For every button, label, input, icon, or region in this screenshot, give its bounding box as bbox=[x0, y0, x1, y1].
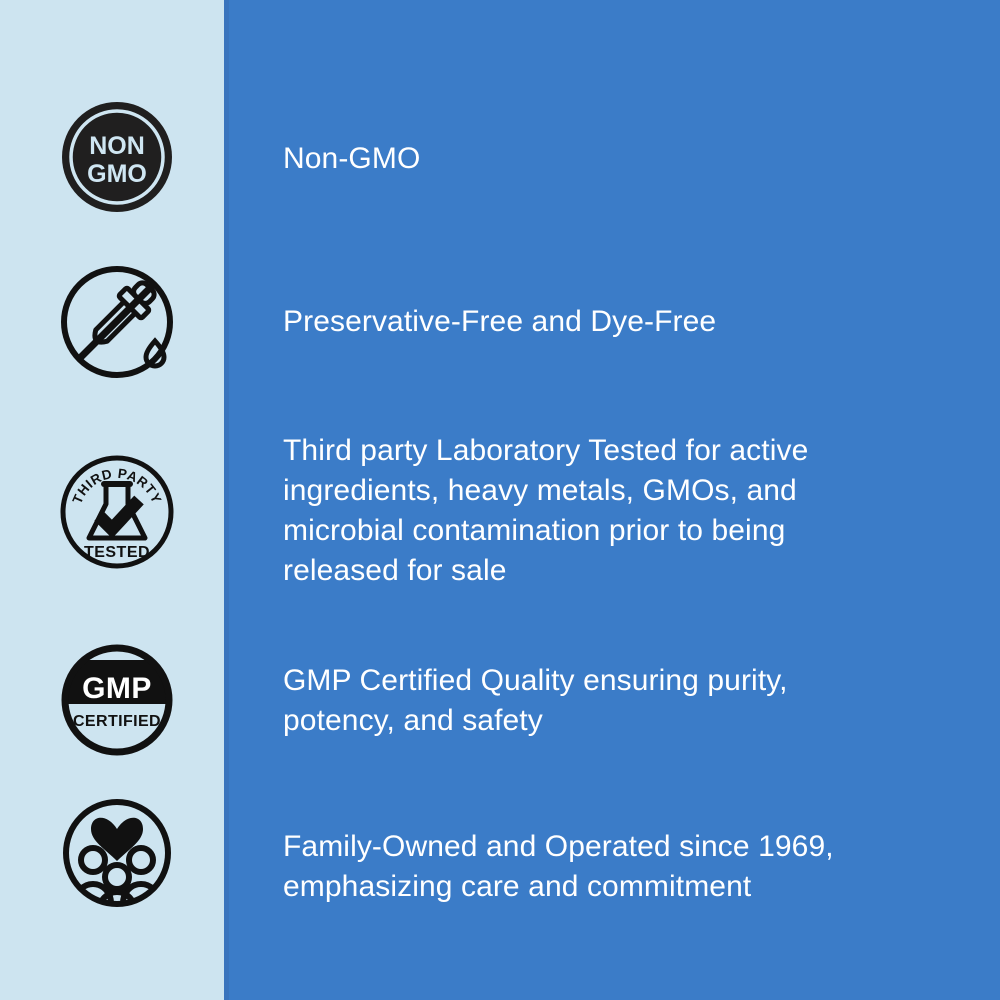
product-benefits-panel: NON GMO bbox=[0, 0, 1000, 1000]
benefit-line: emphasizing care and commitment bbox=[283, 867, 834, 907]
family-owned-heart-icon bbox=[57, 793, 177, 913]
icon-slot-family-owned bbox=[0, 0, 224, 1000]
icon-column: NON GMO bbox=[0, 0, 224, 1000]
benefit-text-family-owned: Family-Owned and Operated since 1969, em… bbox=[283, 827, 834, 907]
benefit-line: Family-Owned and Operated since 1969, bbox=[283, 827, 834, 867]
content-column: Non-GMO Preservative-Free and Dye-Free T… bbox=[224, 0, 1000, 1000]
benefit-row-family-owned: Family-Owned and Operated since 1969, em… bbox=[224, 0, 1000, 1000]
